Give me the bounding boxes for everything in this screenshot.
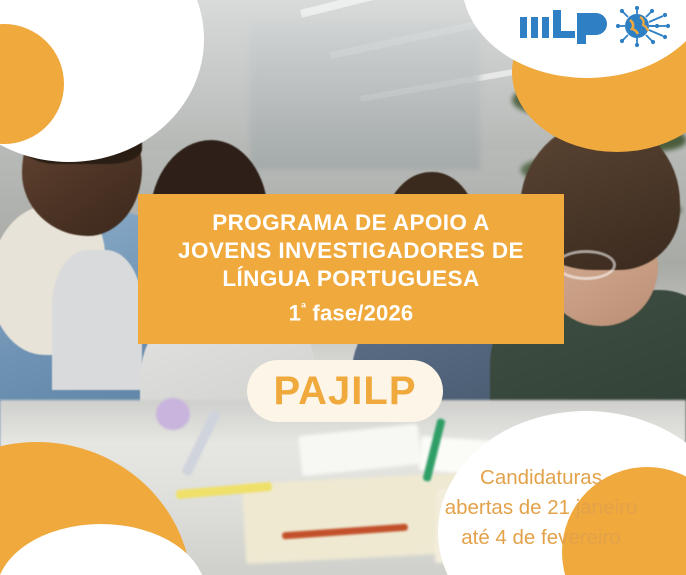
iilp-logo [518, 6, 674, 48]
application-period-line-1: Candidaturas [414, 463, 668, 493]
headline-line-3: LÍNGUA PORTUGUESA [222, 265, 479, 293]
application-period: Candidaturas abertas de 21 janeiro até 4… [414, 463, 668, 553]
acronym-badge: PAJILP [247, 360, 443, 422]
application-period-line-2: abertas de 21 janeiro [414, 493, 668, 523]
phase-rest: fase/2026 [306, 301, 413, 326]
photo-window [250, 20, 480, 170]
photo-pompom [156, 398, 190, 430]
acronym-label: PAJILP [273, 371, 416, 411]
photo-person-glasses [556, 250, 616, 280]
phase-number: 1 [289, 301, 301, 326]
globe-network-icon [616, 6, 674, 48]
photo-person-shirt [52, 250, 142, 390]
poster: PROGRAMA DE APOIO A JOVENS INVESTIGADORE… [0, 0, 686, 575]
headline-line-1: PROGRAMA DE APOIO A [212, 209, 490, 237]
application-period-line-3: até 4 de fevereiro [414, 523, 668, 553]
iilp-wordmark-icon [518, 7, 610, 47]
headline-band: PROGRAMA DE APOIO A JOVENS INVESTIGADORE… [138, 194, 564, 344]
headline-line-2: JOVENS INVESTIGADORES DE [178, 237, 524, 265]
headline-phase: 1ª fase/2026 [289, 293, 414, 328]
